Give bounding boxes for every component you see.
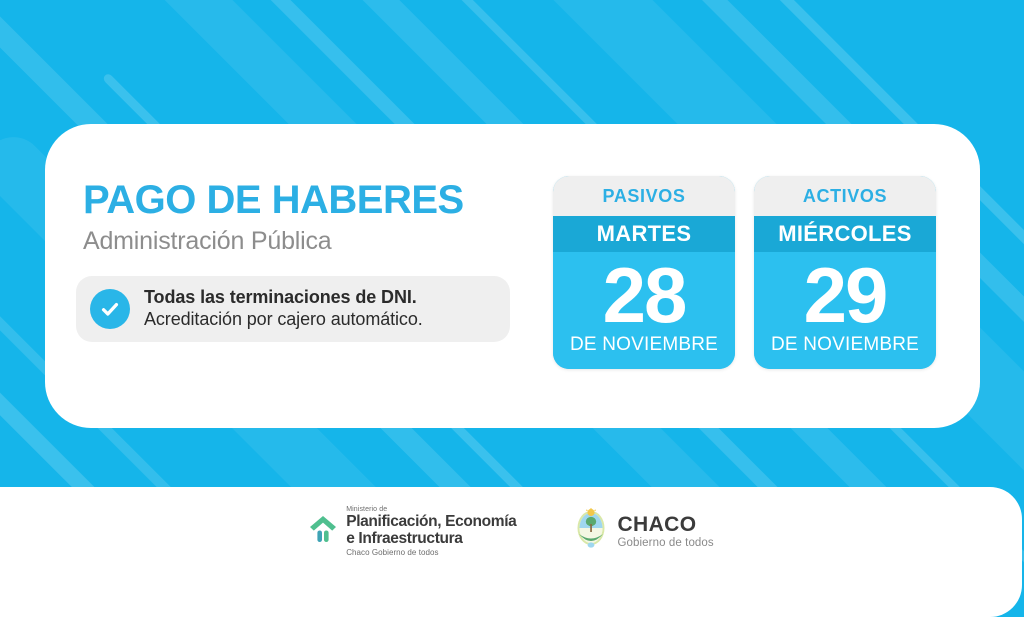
notice-text: Todas las terminaciones de DNI. Acredita…: [144, 287, 423, 331]
chaco-text: CHACO Gobierno de todos: [617, 514, 713, 549]
headline-block: PAGO DE HABERES Administración Pública: [83, 180, 563, 256]
footer-panel: Ministerio de Planificación, Economía e …: [0, 487, 1022, 617]
ministry-tagline: Chaco Gobierno de todos: [346, 549, 516, 558]
ministry-eyebrow: Ministerio de: [346, 506, 516, 514]
date-card-body: 28 DE NOVIEMBRE: [553, 252, 735, 369]
chaco-title: CHACO: [617, 514, 713, 536]
house-infrastructure-icon: [308, 513, 338, 550]
date-card-category: PASIVOS: [553, 176, 735, 216]
date-card-weekday: MIÉRCOLES: [754, 216, 936, 252]
date-card-weekday: MARTES: [553, 216, 735, 252]
main-card: PAGO DE HABERES Administración Pública T…: [45, 124, 980, 428]
date-card-day: 29: [804, 261, 887, 330]
date-card-pasivos: PASIVOS MARTES 28 DE NOVIEMBRE: [553, 176, 735, 369]
chaco-logo: CHACO Gobierno de todos: [574, 508, 713, 555]
date-card-month: DE NOVIEMBRE: [771, 334, 919, 356]
ministry-line-2: e Infraestructura: [346, 530, 516, 547]
check-circle-icon: [90, 289, 130, 329]
page-subtitle: Administración Pública: [83, 228, 563, 256]
date-card-activos: ACTIVOS MIÉRCOLES 29 DE NOVIEMBRE: [754, 176, 936, 369]
page-title: PAGO DE HABERES: [83, 180, 563, 220]
ministry-line-1: Planificación, Economía: [346, 513, 516, 530]
chaco-coat-of-arms-icon: [574, 508, 608, 555]
notice-line-2: Acreditación por cajero automático.: [144, 309, 423, 331]
notice-pill: Todas las terminaciones de DNI. Acredita…: [76, 276, 510, 342]
chaco-tagline: Gobierno de todos: [617, 537, 713, 549]
date-card-day: 28: [603, 261, 686, 330]
date-card-month: DE NOVIEMBRE: [570, 334, 718, 356]
date-card-body: 29 DE NOVIEMBRE: [754, 252, 936, 369]
date-card-category: ACTIVOS: [754, 176, 936, 216]
notice-line-1: Todas las terminaciones de DNI.: [144, 287, 423, 309]
ministry-logo: Ministerio de Planificación, Economía e …: [308, 506, 516, 558]
footer-logos: Ministerio de Planificación, Economía e …: [0, 487, 1022, 576]
ministry-text: Ministerio de Planificación, Economía e …: [346, 506, 516, 558]
